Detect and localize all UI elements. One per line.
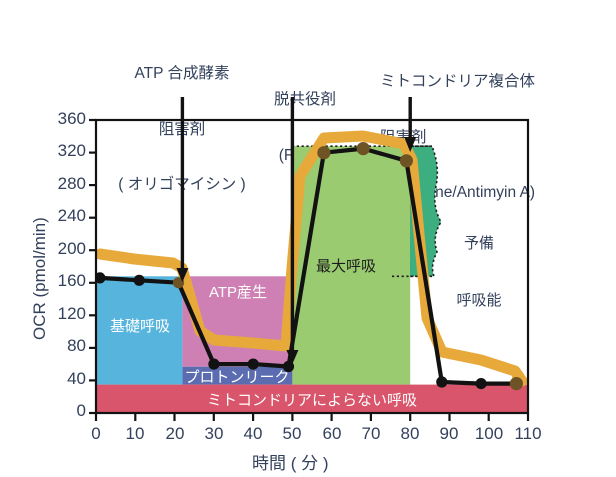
data-point: [436, 376, 447, 387]
x-tick-label-10: 10: [115, 424, 155, 444]
y-tick-label-360: 360: [56, 109, 86, 129]
chart-figure: ATP 合成酵素 阻害剤 ( オリゴマイシン ) 脱共役剤 (FCCP) ミトコ…: [0, 0, 616, 477]
x-axis-ticks: [96, 413, 528, 421]
data-point: [317, 146, 330, 159]
x-tick-label-110: 110: [508, 424, 548, 444]
x-tick-label-40: 40: [233, 424, 273, 444]
region-label-nonmito: ミトコンドリアによらない呼吸: [96, 389, 528, 410]
y-tick-label-0: 0: [56, 401, 86, 421]
x-tick-label-80: 80: [390, 424, 430, 444]
y-tick-label-80: 80: [56, 336, 86, 356]
x-axis-title: 時間 ( 分 ): [252, 449, 329, 474]
region-label-atp: ATP産生: [190, 281, 286, 302]
region-label-spare: 予備 呼吸能: [444, 196, 514, 348]
region-label-basal: 基礎呼吸: [97, 315, 183, 336]
x-tick-label-20: 20: [155, 424, 195, 444]
region-label-spare-line2: 呼吸能: [444, 291, 514, 310]
region-label-spare-line1: 予備: [444, 234, 514, 253]
y-tick-label-280: 280: [56, 174, 86, 194]
y-tick-label-40: 40: [56, 369, 86, 389]
y-tick-label-160: 160: [56, 271, 86, 291]
y-tick-label-200: 200: [56, 239, 86, 259]
data-point: [476, 378, 487, 389]
region-label-maximal: 最大呼吸: [316, 255, 376, 276]
x-tick-label-60: 60: [312, 424, 352, 444]
x-tick-label-30: 30: [194, 424, 234, 444]
data-point: [357, 142, 370, 155]
x-tick-label-100: 100: [469, 424, 509, 444]
y-tick-label-240: 240: [56, 206, 86, 226]
x-tick-label-50: 50: [272, 424, 312, 444]
x-tick-label-90: 90: [429, 424, 469, 444]
region-label-proton-leak: プロトンリーク: [182, 366, 292, 387]
y-tick-label-320: 320: [56, 141, 86, 161]
data-point: [134, 275, 145, 286]
x-tick-label-70: 70: [351, 424, 391, 444]
data-point: [400, 154, 413, 167]
x-tick-label-0: 0: [76, 424, 116, 444]
y-tick-label-120: 120: [56, 304, 86, 324]
y-axis-title: OCR (pmol/min): [30, 217, 50, 340]
